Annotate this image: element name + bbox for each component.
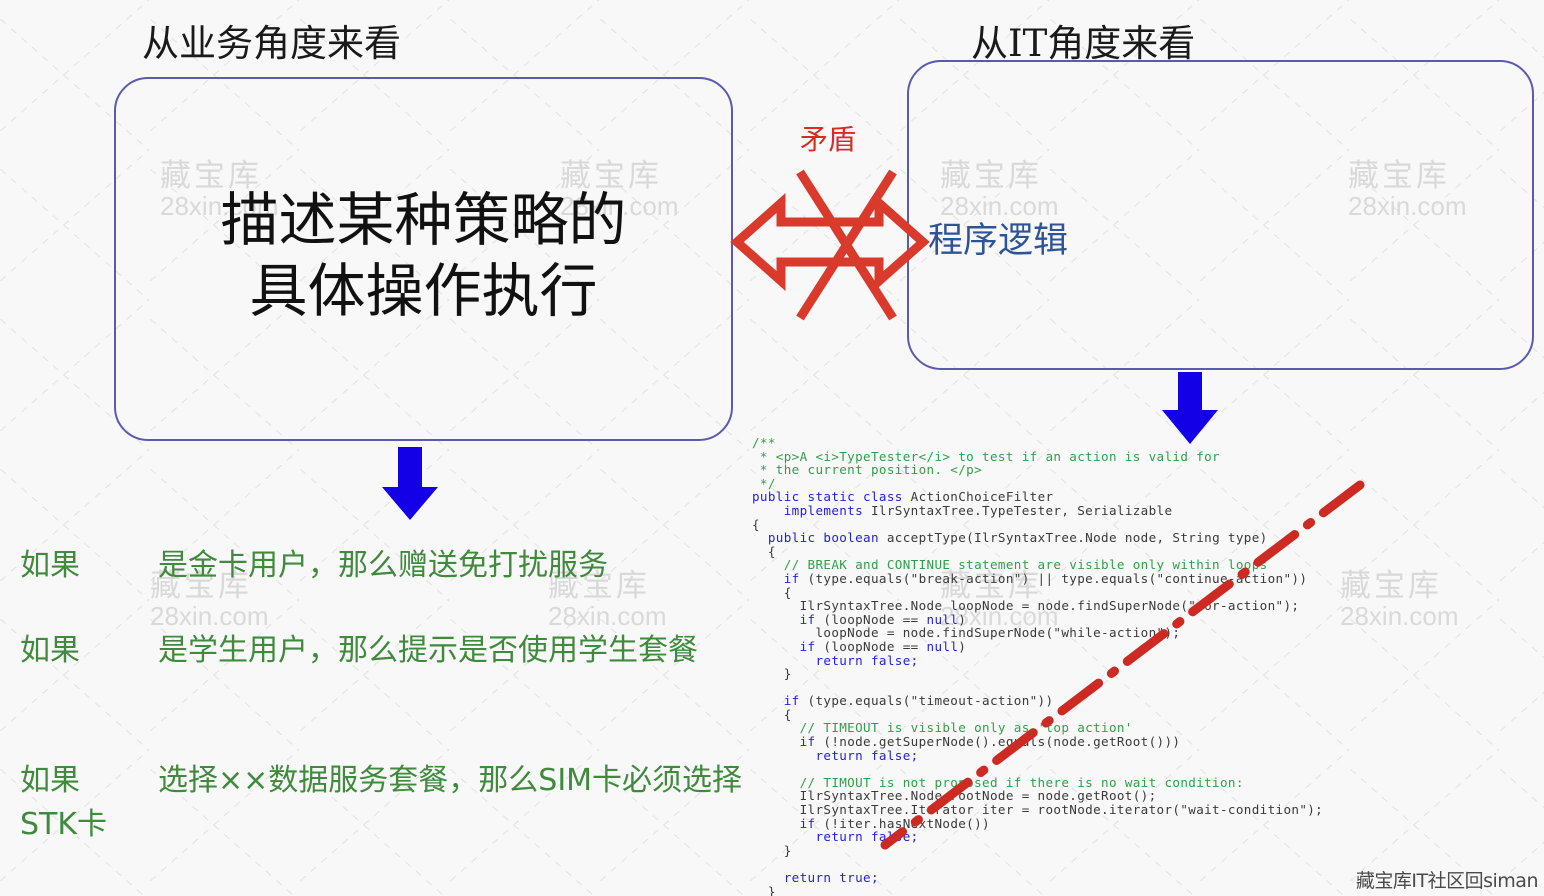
business-down-arrow-icon <box>382 447 438 520</box>
code-line <box>752 857 1323 871</box>
code-line: * the current position. </p> <box>752 463 1323 477</box>
watermark-en: 28xin.com <box>1340 603 1459 630</box>
code-line: /** <box>752 436 1323 450</box>
code-line: IlrSyntaxTree.Iterator iter = rootNode.i… <box>752 803 1323 817</box>
code-line: { <box>752 708 1323 722</box>
code-line: return true; <box>752 871 1323 885</box>
business-box-text-line2: 具体操作执行 <box>114 256 733 327</box>
conflict-cross-icon <box>800 172 893 318</box>
it-column-title: 从IT角度来看 <box>971 13 1195 67</box>
rule-keyword: 如果 <box>20 548 80 583</box>
code-line: * <p>A <i>TypeTester</i> to test if an a… <box>752 450 1323 464</box>
code-line: if (loopNode == null) <box>752 640 1323 654</box>
code-token: IlrSyntaxTree.TypeTester, Serializable <box>863 503 1172 518</box>
rule-keyword: 如果 <box>20 763 80 798</box>
code-token: (type.equals("break-action") || type.equ… <box>800 571 1308 586</box>
rule-item-2: 如果是学生用户，那么提示是否使用学生套餐 <box>20 625 770 669</box>
code-line: // TIMEOUT is visible only as 'top actio… <box>752 721 1323 735</box>
code-line: if (type.equals("timeout-action")) <box>752 694 1323 708</box>
code-line: { <box>752 518 1323 532</box>
rule-item-1: 如果是金卡用户，那么赠送免打扰服务 <box>20 540 608 584</box>
business-box-text: 描述某种策略的 具体操作执行 <box>114 185 733 327</box>
code-line: } <box>752 885 1323 896</box>
code-line: loopNode = node.findSuperNode("while-act… <box>752 626 1323 640</box>
code-line: return false; <box>752 654 1323 668</box>
double-headed-arrow-icon <box>737 203 923 281</box>
code-line: { <box>752 586 1323 600</box>
business-box-text-line1: 描述某种策略的 <box>114 185 733 256</box>
code-line: IlrSyntaxTree.Node rootNode = node.getRo… <box>752 789 1323 803</box>
code-line: implements IlrSyntaxTree.TypeTester, Ser… <box>752 504 1323 518</box>
code-line: if (loopNode == null) <box>752 613 1323 627</box>
it-down-arrow-icon <box>1162 372 1218 444</box>
rule-keyword: 如果 <box>20 633 80 668</box>
code-token: (type.equals("timeout-action")) <box>800 693 1054 708</box>
code-token: implements <box>752 503 863 518</box>
code-token: null <box>927 639 959 654</box>
code-line: } <box>752 844 1323 858</box>
code-line: if (type.equals("break-action") || type.… <box>752 572 1323 586</box>
code-line <box>752 762 1323 776</box>
code-line: public static class ActionChoiceFilter <box>752 490 1323 504</box>
code-line: return false; <box>752 749 1323 763</box>
code-line <box>752 681 1323 695</box>
code-token: } <box>752 884 776 896</box>
footer-watermark: 藏宝库IT社区回siman <box>1356 866 1538 893</box>
code-token: } <box>752 666 792 681</box>
rule-body: 选择××数据服务套餐，那么SIM卡必须选择STK卡 <box>20 763 742 842</box>
it-box-text: 程序逻辑 <box>928 212 1068 263</box>
code-line: // TIMOUT is not proposed if there is no… <box>752 776 1323 790</box>
watermark: 藏宝库 28xin.com <box>1340 570 1459 630</box>
code-token: * the current position. </p> <box>752 462 982 477</box>
code-line: if (!node.getSuperNode().equals(node.get… <box>752 735 1323 749</box>
code-token: acceptType(IlrSyntaxTree.Node node, Stri… <box>879 530 1268 545</box>
code-line: public boolean acceptType(IlrSyntaxTree.… <box>752 531 1323 545</box>
rule-body: 是学生用户，那么提示是否使用学生套餐 <box>158 633 698 668</box>
code-line: } <box>752 667 1323 681</box>
slide-canvas: 藏宝库 28xin.com 藏宝库 28xin.com 藏宝库 28xin.co… <box>0 0 1544 896</box>
rule-body: 是金卡用户，那么赠送免打扰服务 <box>158 548 608 583</box>
conflict-label: 矛盾 <box>800 118 856 158</box>
code-block: /** * <p>A <i>TypeTester</i> to test if … <box>752 436 1323 896</box>
business-column-title: 从业务角度来看 <box>142 13 401 67</box>
code-line: // BREAK and CONTINUE statement are visi… <box>752 558 1323 572</box>
code-line: return false; <box>752 830 1323 844</box>
code-token: return false; <box>752 748 919 763</box>
code-line: { <box>752 545 1323 559</box>
code-line: */ <box>752 477 1323 491</box>
watermark-cn: 藏宝库 <box>1340 570 1459 603</box>
code-line: if (!iter.hasNextNode()) <box>752 817 1323 831</box>
code-token: ) <box>958 639 966 654</box>
code-line: IlrSyntaxTree.Node loopNode = node.findS… <box>752 599 1323 613</box>
rule-item-3: 如果选择××数据服务套餐，那么SIM卡必须选择STK卡 <box>20 755 780 843</box>
